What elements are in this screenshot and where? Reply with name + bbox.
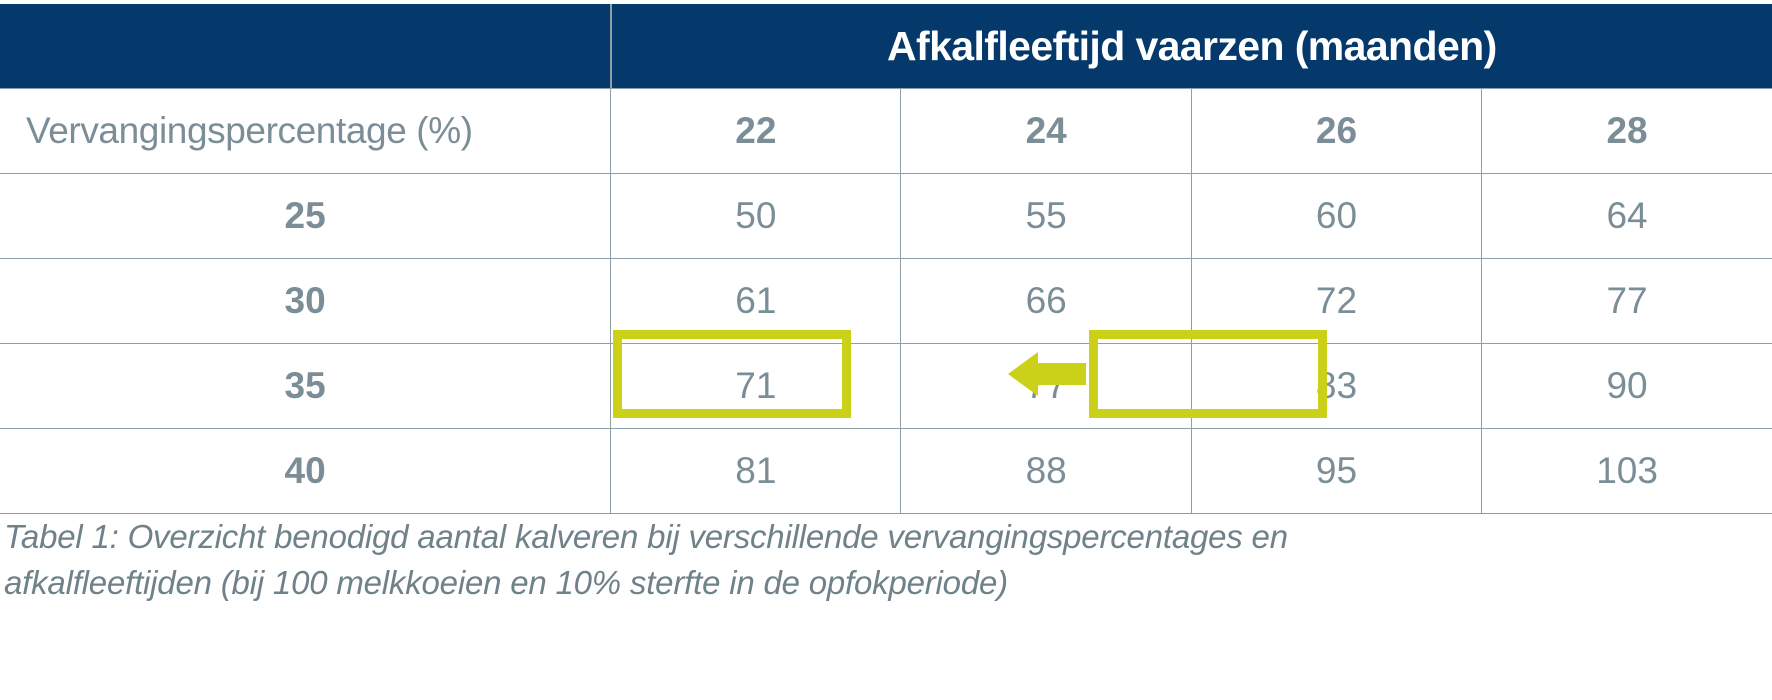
cell-25-24: 55 bbox=[901, 174, 1191, 259]
cell-40-22: 81 bbox=[611, 429, 901, 514]
column-header-28: 28 bbox=[1482, 89, 1772, 174]
cell-30-28: 77 bbox=[1482, 259, 1772, 344]
cell-25-22: 50 bbox=[611, 174, 901, 259]
table-caption: Tabel 1: Overzicht benodigd aantal kalve… bbox=[4, 514, 1604, 606]
calf-requirement-table: Afkalfleeftijd vaarzen (maanden) Vervang… bbox=[0, 4, 1772, 514]
column-header-row: Vervangingspercentage (%) 22 24 26 28 bbox=[0, 89, 1772, 174]
cell-25-26: 60 bbox=[1191, 174, 1481, 259]
cell-35-22: 71 bbox=[611, 344, 901, 429]
table-row: 25 50 55 60 64 bbox=[0, 174, 1772, 259]
table-row: 40 81 88 95 103 bbox=[0, 429, 1772, 514]
table-row: 30 61 66 72 77 bbox=[0, 259, 1772, 344]
header-blank-cell bbox=[0, 4, 611, 89]
cell-40-28: 103 bbox=[1482, 429, 1772, 514]
cell-30-24: 66 bbox=[901, 259, 1191, 344]
cell-40-26: 95 bbox=[1191, 429, 1481, 514]
table-figure: Afkalfleeftijd vaarzen (maanden) Vervang… bbox=[0, 0, 1772, 700]
header-title-cell: Afkalfleeftijd vaarzen (maanden) bbox=[611, 4, 1772, 89]
table-title: Afkalfleeftijd vaarzen (maanden) bbox=[612, 4, 1772, 88]
cell-40-24: 88 bbox=[901, 429, 1191, 514]
cell-30-26: 72 bbox=[1191, 259, 1481, 344]
cell-30-22: 61 bbox=[611, 259, 901, 344]
table-row: 35 71 77 83 90 bbox=[0, 344, 1772, 429]
cell-35-26: 83 bbox=[1191, 344, 1481, 429]
column-header-24: 24 bbox=[901, 89, 1191, 174]
column-header-26: 26 bbox=[1191, 89, 1481, 174]
row-label-35: 35 bbox=[0, 344, 611, 429]
caption-line-1: Tabel 1: Overzicht benodigd aantal kalve… bbox=[4, 514, 1604, 560]
column-header-22: 22 bbox=[611, 89, 901, 174]
row-label-30: 30 bbox=[0, 259, 611, 344]
table-header-banner: Afkalfleeftijd vaarzen (maanden) bbox=[0, 4, 1772, 89]
table-container: Afkalfleeftijd vaarzen (maanden) Vervang… bbox=[0, 4, 1772, 514]
cell-35-28: 90 bbox=[1482, 344, 1772, 429]
cell-25-28: 64 bbox=[1482, 174, 1772, 259]
left-arrow-icon bbox=[1008, 352, 1086, 396]
row-label-header: Vervangingspercentage (%) bbox=[0, 89, 611, 174]
caption-line-2: afkalfleeftijden (bij 100 melkkoeien en … bbox=[4, 560, 1604, 606]
row-label-40: 40 bbox=[0, 429, 611, 514]
row-label-25: 25 bbox=[0, 174, 611, 259]
